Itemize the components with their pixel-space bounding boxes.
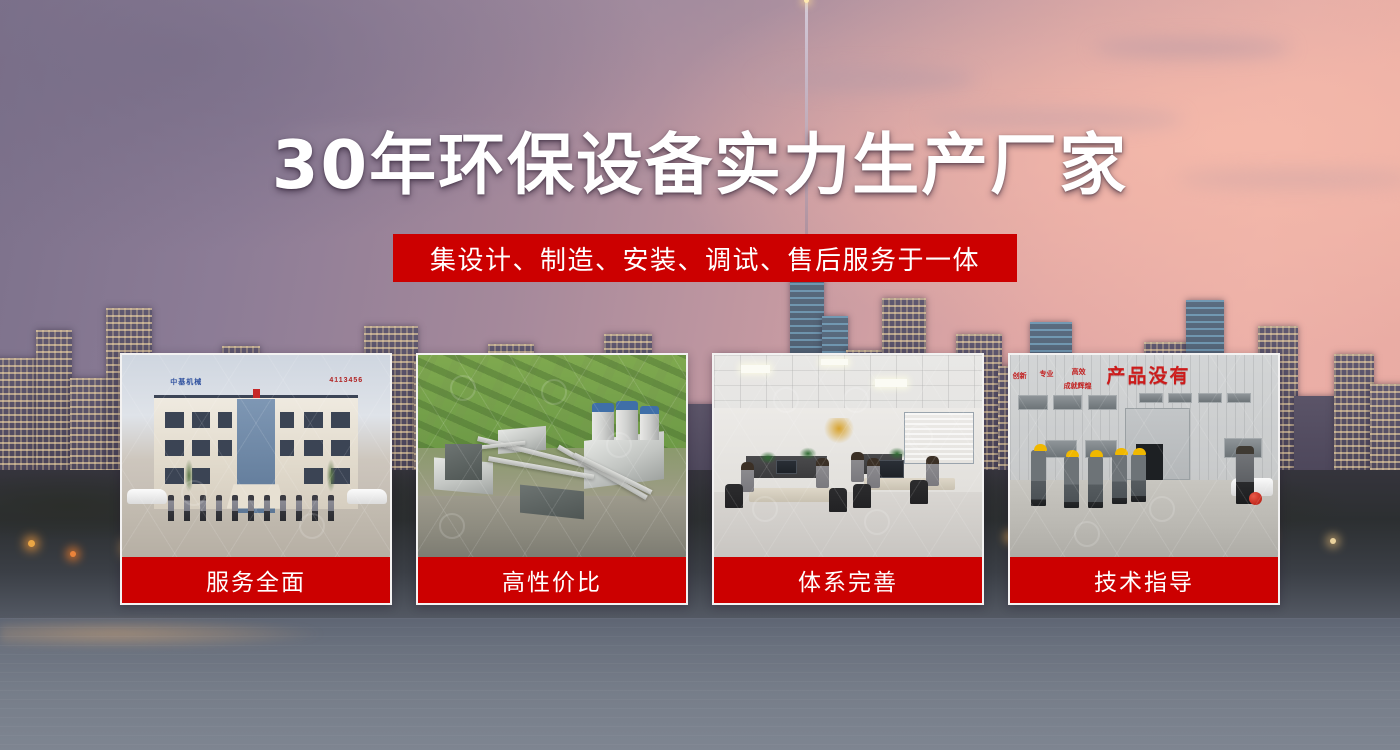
- card-caption-text: 服务全面: [206, 563, 306, 597]
- factory-sign-small-3: 高效: [1072, 369, 1086, 378]
- feature-card[interactable]: 体系完善: [712, 353, 984, 605]
- subtitle-text: 集设计、制造、安装、调试、售后服务于一体: [430, 240, 980, 277]
- subtitle-banner: 集设计、制造、安装、调试、售后服务于一体: [393, 234, 1017, 282]
- card-caption-bar: 技术指导: [1010, 557, 1278, 603]
- page-title: 30年环保设备实力生产厂家: [0, 131, 1400, 199]
- factory-sign-text: 产品没有: [1106, 361, 1190, 388]
- feature-card[interactable]: 产品没有 创新 专业 高效 成就辉煌: [1008, 353, 1280, 605]
- card-caption-text: 技术指导: [1094, 563, 1194, 597]
- feature-card[interactable]: 高性价比: [416, 353, 688, 605]
- office-building-photo: 中基机械 4113456: [122, 355, 390, 557]
- card-caption-text: 高性价比: [502, 563, 602, 597]
- card-caption-bar: 服务全面: [122, 557, 390, 603]
- worker-training-photo: 产品没有 创新 专业 高效 成就辉煌: [1010, 355, 1278, 557]
- office-interior-photo: [714, 355, 982, 557]
- card-photo: 产品没有 创新 专业 高效 成就辉煌: [1010, 355, 1278, 557]
- card-caption-bar: 高性价比: [418, 557, 686, 603]
- industrial-plant-aerial-photo: [418, 355, 686, 557]
- feature-card[interactable]: 中基机械 4113456: [120, 353, 392, 605]
- card-caption-bar: 体系完善: [714, 557, 982, 603]
- factory-sign-small-1: 创新: [1013, 373, 1027, 382]
- river-water: [0, 618, 1400, 750]
- banner-stage: 30年环保设备实力生产厂家 集设计、制造、安装、调试、售后服务于一体: [0, 0, 1400, 750]
- water-reflection: [0, 618, 644, 658]
- feature-card-list: 中基机械 4113456: [120, 353, 1280, 605]
- factory-sign-small-4: 成就辉煌: [1064, 383, 1092, 392]
- cloud: [756, 66, 976, 92]
- cloud: [1092, 38, 1292, 58]
- card-photo: 中基机械 4113456: [122, 355, 390, 557]
- card-caption-text: 体系完善: [798, 563, 898, 597]
- factory-sign-small-2: 专业: [1039, 371, 1053, 380]
- card-photo: [418, 355, 686, 557]
- building-phone-text: 4113456: [329, 377, 363, 384]
- building-sign-text: 中基机械: [170, 377, 202, 387]
- card-photo: [714, 355, 982, 557]
